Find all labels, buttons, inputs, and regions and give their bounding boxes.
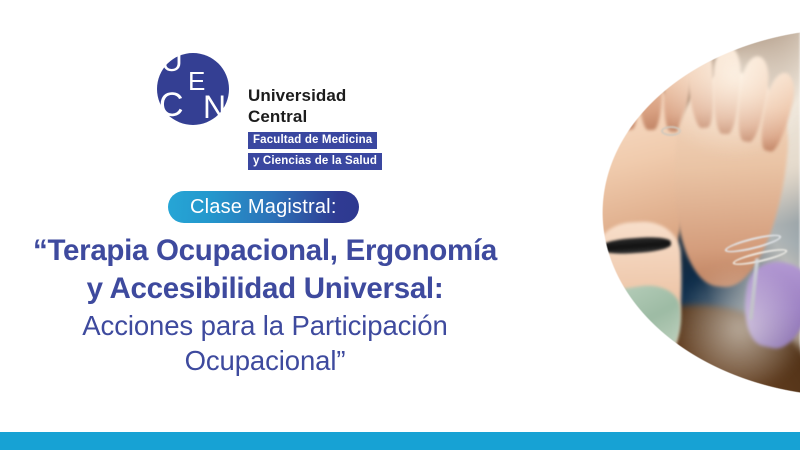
university-name: Universidad Central bbox=[248, 86, 346, 127]
university-name-line1: Universidad bbox=[248, 86, 346, 107]
clase-magistral-badge: Clase Magistral: bbox=[168, 191, 359, 223]
logo-letter-u: U bbox=[161, 47, 182, 77]
hands-photo-panel bbox=[515, 0, 800, 425]
ucen-logo-mark: U C E N bbox=[155, 44, 233, 136]
title-line-3: Acciones para la Participación bbox=[0, 308, 530, 343]
page-title: “Terapia Ocupacional, Ergonomía y Accesi… bbox=[0, 232, 530, 378]
slide-canvas: U C E N Universidad Central Facultad de … bbox=[0, 0, 800, 450]
university-name-line2: Central bbox=[248, 107, 346, 128]
text-content-column: U C E N Universidad Central Facultad de … bbox=[0, 0, 530, 450]
title-line-1: “Terapia Ocupacional, Ergonomía bbox=[0, 232, 530, 270]
title-line-2: y Accesibilidad Universal: bbox=[0, 270, 530, 308]
logo-letter-n: N bbox=[203, 91, 226, 123]
faculty-name: Facultad de Medicina y Ciencias de la Sa… bbox=[248, 130, 382, 172]
highlight-glow bbox=[670, 268, 800, 388]
faculty-band-line1: Facultad de Medicina bbox=[248, 132, 377, 149]
clase-magistral-badge-label: Clase Magistral: bbox=[190, 196, 337, 219]
logo-letter-c: C bbox=[159, 88, 183, 122]
faculty-band-line2: y Ciencias de la Salud bbox=[248, 153, 382, 170]
ucen-logo: U C E N Universidad Central Facultad de … bbox=[155, 44, 405, 166]
bottom-accent-bar bbox=[0, 432, 800, 450]
title-line-4: Ocupacional” bbox=[0, 343, 530, 378]
hands-photo-illustration bbox=[515, 0, 800, 425]
